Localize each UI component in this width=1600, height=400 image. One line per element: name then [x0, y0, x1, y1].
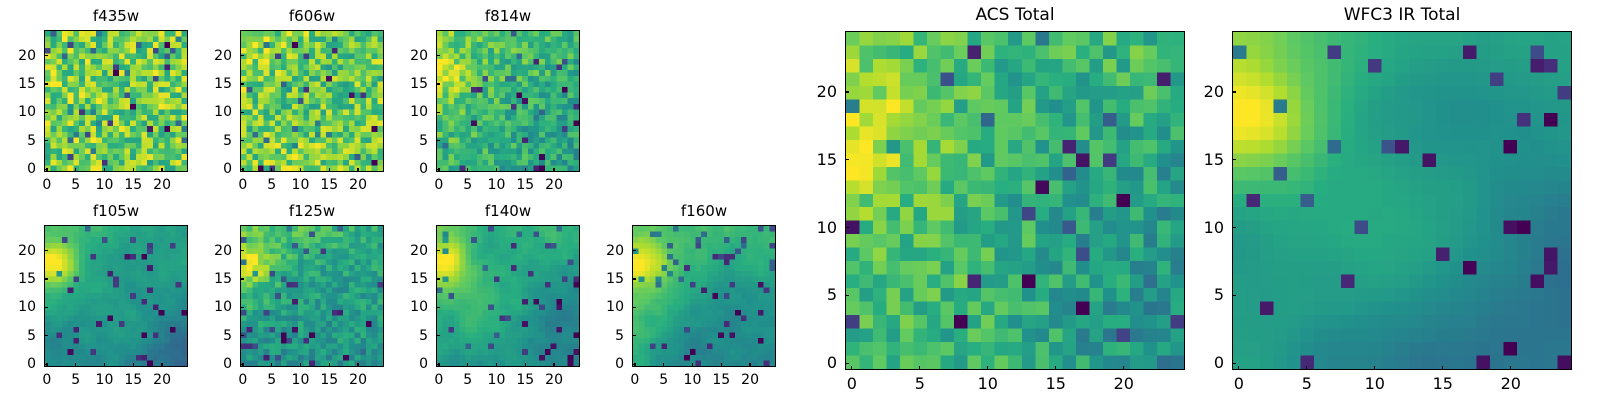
panel-title-f606w: f606w	[240, 6, 384, 26]
xtick-label-f125w-3: 15	[320, 371, 338, 389]
heatmap-image-f105w	[45, 226, 187, 366]
ytick-label-f105w-2: 10	[2, 298, 36, 316]
ytick-mark-acs-total-0	[845, 363, 849, 364]
ytick-mark-f435w-0	[44, 169, 48, 170]
ytick-mark-f105w-3	[44, 278, 48, 279]
ytick-mark-f606w-3	[240, 83, 244, 84]
ytick-mark-f125w-0	[240, 364, 244, 365]
ytick-mark-f140w-3	[436, 278, 440, 279]
xtick-mark-f435w-4	[161, 168, 162, 172]
ytick-label-f125w-4: 20	[198, 242, 232, 260]
ytick-label-wfc3-ir-total-0: 0	[1190, 353, 1224, 373]
ytick-mark-acs-total-1	[845, 295, 849, 296]
xtick-label-f125w-0: 0	[238, 371, 247, 389]
xtick-label-wfc3-ir-total-2: 10	[1365, 374, 1385, 394]
ytick-label-f140w-4: 20	[394, 242, 428, 260]
xtick-mark-wfc3-ir-total-3	[1442, 366, 1443, 370]
xtick-label-f814w-2: 10	[488, 176, 506, 194]
xtick-label-acs-total-4: 20	[1114, 374, 1134, 394]
xtick-label-f140w-3: 15	[516, 371, 534, 389]
ytick-label-acs-total-1: 5	[803, 285, 837, 305]
xtick-mark-wfc3-ir-total-0	[1238, 366, 1239, 370]
panel-f125w: f125w0510152005101520	[240, 201, 384, 393]
xtick-label-f435w-0: 0	[42, 176, 51, 194]
ytick-label-f435w-4: 20	[2, 47, 36, 65]
panel-title-f435w: f435w	[44, 6, 188, 26]
ytick-label-f435w-0: 0	[2, 160, 36, 178]
ytick-label-acs-total-3: 15	[803, 150, 837, 170]
xtick-mark-f814w-4	[553, 168, 554, 172]
ytick-label-f814w-4: 20	[394, 47, 428, 65]
ytick-label-wfc3-ir-total-2: 10	[1190, 218, 1224, 238]
ytick-mark-acs-total-3	[845, 159, 849, 160]
xtick-label-wfc3-ir-total-3: 15	[1433, 374, 1453, 394]
xtick-label-f140w-0: 0	[434, 371, 443, 389]
ytick-label-f105w-1: 5	[2, 327, 36, 345]
panel-title-f140w: f140w	[436, 201, 580, 221]
xtick-label-wfc3-ir-total-4: 20	[1501, 374, 1521, 394]
xtick-label-acs-total-3: 15	[1046, 374, 1066, 394]
ytick-mark-f814w-2	[436, 112, 440, 113]
xtick-label-f160w-4: 20	[741, 371, 759, 389]
panel-f606w: f606w0510152005101520	[240, 6, 384, 198]
ytick-mark-f105w-4	[44, 250, 48, 251]
xtick-mark-f105w-4	[161, 363, 162, 367]
xtick-mark-f435w-2	[104, 168, 105, 172]
xtick-mark-acs-total-0	[851, 366, 852, 370]
xtick-mark-f606w-1	[271, 168, 272, 172]
xtick-label-f105w-3: 15	[124, 371, 142, 389]
xtick-label-f606w-4: 20	[349, 176, 367, 194]
xtick-mark-f814w-1	[467, 168, 468, 172]
xtick-label-f160w-2: 10	[684, 371, 702, 389]
xtick-label-acs-total-0: 0	[847, 374, 857, 394]
xtick-label-f435w-1: 5	[71, 176, 80, 194]
panel-f140w: f140w0510152005101520	[436, 201, 580, 393]
heatmap-image-f125w	[241, 226, 383, 366]
ytick-label-f105w-4: 20	[2, 242, 36, 260]
ytick-label-f160w-3: 15	[590, 270, 624, 288]
ytick-mark-f814w-4	[436, 55, 440, 56]
ytick-mark-f105w-1	[44, 335, 48, 336]
xtick-label-f606w-1: 5	[267, 176, 276, 194]
heatmap-axes-f125w	[240, 225, 384, 367]
xtick-mark-f435w-3	[133, 168, 134, 172]
ytick-mark-wfc3-ir-total-4	[1232, 91, 1236, 92]
ytick-label-f140w-0: 0	[394, 355, 428, 373]
ytick-label-f125w-3: 15	[198, 270, 232, 288]
xtick-label-f606w-0: 0	[238, 176, 247, 194]
xtick-label-f105w-4: 20	[153, 371, 171, 389]
xtick-mark-f435w-1	[75, 168, 76, 172]
ytick-mark-acs-total-2	[845, 227, 849, 228]
ytick-label-f160w-0: 0	[590, 355, 624, 373]
xtick-label-f160w-1: 5	[659, 371, 668, 389]
ytick-label-f160w-2: 10	[590, 298, 624, 316]
ytick-label-f606w-4: 20	[198, 47, 232, 65]
ytick-label-f105w-0: 0	[2, 355, 36, 373]
xtick-label-f814w-0: 0	[434, 176, 443, 194]
ytick-mark-f140w-2	[436, 307, 440, 308]
xtick-mark-f125w-2	[300, 363, 301, 367]
heatmap-image-acs-total	[846, 32, 1184, 369]
ytick-label-f435w-2: 10	[2, 103, 36, 121]
ytick-mark-f105w-2	[44, 307, 48, 308]
xtick-label-wfc3-ir-total-0: 0	[1234, 374, 1244, 394]
xtick-mark-f606w-2	[300, 168, 301, 172]
xtick-mark-wfc3-ir-total-4	[1510, 366, 1511, 370]
xtick-mark-acs-total-4	[1123, 366, 1124, 370]
xtick-label-f160w-0: 0	[630, 371, 639, 389]
heatmap-axes-wfc3-ir-total	[1232, 31, 1572, 370]
xtick-label-f435w-2: 10	[96, 176, 114, 194]
ytick-mark-wfc3-ir-total-1	[1232, 295, 1236, 296]
xtick-label-f435w-4: 20	[153, 176, 171, 194]
ytick-label-f160w-4: 20	[590, 242, 624, 260]
xtick-mark-f125w-3	[329, 363, 330, 367]
ytick-mark-f814w-1	[436, 140, 440, 141]
ytick-mark-f160w-2	[632, 307, 636, 308]
panel-title-f814w: f814w	[436, 6, 580, 26]
xtick-mark-acs-total-3	[1055, 366, 1056, 370]
ytick-label-f105w-3: 15	[2, 270, 36, 288]
panel-title-wfc3-ir-total: WFC3 IR Total	[1232, 4, 1572, 27]
ytick-label-f125w-2: 10	[198, 298, 232, 316]
ytick-mark-acs-total-4	[845, 91, 849, 92]
ytick-label-f125w-1: 5	[198, 327, 232, 345]
panel-f814w: f814w0510152005101520	[436, 6, 580, 198]
ytick-mark-f435w-2	[44, 112, 48, 113]
ytick-label-f435w-3: 15	[2, 75, 36, 93]
ytick-mark-wfc3-ir-total-2	[1232, 227, 1236, 228]
ytick-label-wfc3-ir-total-1: 5	[1190, 285, 1224, 305]
heatmap-axes-f140w	[436, 225, 580, 367]
panel-f105w: f105w0510152005101520	[44, 201, 188, 393]
heatmap-image-f814w	[437, 31, 579, 171]
xtick-label-f606w-3: 15	[320, 176, 338, 194]
ytick-label-f140w-3: 15	[394, 270, 428, 288]
ytick-label-f435w-1: 5	[2, 132, 36, 150]
ytick-mark-f125w-2	[240, 307, 244, 308]
heatmap-axes-f105w	[44, 225, 188, 367]
xtick-mark-f814w-3	[525, 168, 526, 172]
xtick-mark-f814w-2	[496, 168, 497, 172]
ytick-mark-f160w-3	[632, 278, 636, 279]
xtick-label-wfc3-ir-total-1: 5	[1302, 374, 1312, 394]
xtick-mark-f160w-2	[692, 363, 693, 367]
ytick-label-f606w-0: 0	[198, 160, 232, 178]
xtick-mark-f125w-1	[271, 363, 272, 367]
ytick-mark-f160w-1	[632, 335, 636, 336]
panel-f435w: f435w0510152005101520	[44, 6, 188, 198]
ytick-label-f814w-0: 0	[394, 160, 428, 178]
xtick-label-f606w-2: 10	[292, 176, 310, 194]
xtick-label-f140w-1: 5	[463, 371, 472, 389]
xtick-mark-f140w-3	[525, 363, 526, 367]
xtick-label-f105w-1: 5	[71, 371, 80, 389]
heatmap-image-f606w	[241, 31, 383, 171]
xtick-mark-f105w-2	[104, 363, 105, 367]
ytick-mark-wfc3-ir-total-0	[1232, 363, 1236, 364]
panel-title-f125w: f125w	[240, 201, 384, 221]
xtick-label-f814w-1: 5	[463, 176, 472, 194]
ytick-label-f606w-1: 5	[198, 132, 232, 150]
xtick-mark-acs-total-2	[987, 366, 988, 370]
ytick-mark-f435w-4	[44, 55, 48, 56]
ytick-mark-f606w-2	[240, 112, 244, 113]
ytick-mark-wfc3-ir-total-3	[1232, 159, 1236, 160]
xtick-label-f140w-4: 20	[545, 371, 563, 389]
xtick-mark-f140w-2	[496, 363, 497, 367]
ytick-label-f160w-1: 5	[590, 327, 624, 345]
xtick-label-f140w-2: 10	[488, 371, 506, 389]
xtick-label-f105w-2: 10	[96, 371, 114, 389]
ytick-label-acs-total-2: 10	[803, 218, 837, 238]
ytick-label-f606w-2: 10	[198, 103, 232, 121]
xtick-label-f160w-3: 15	[712, 371, 730, 389]
xtick-mark-f140w-4	[553, 363, 554, 367]
heatmap-axes-f606w	[240, 30, 384, 172]
ytick-mark-f160w-0	[632, 364, 636, 365]
ytick-label-f140w-1: 5	[394, 327, 428, 345]
ytick-mark-f140w-0	[436, 364, 440, 365]
xtick-label-f814w-4: 20	[545, 176, 563, 194]
heatmap-axes-acs-total	[845, 31, 1185, 370]
heatmap-axes-f814w	[436, 30, 580, 172]
heatmap-image-f160w	[633, 226, 775, 366]
xtick-mark-f105w-3	[133, 363, 134, 367]
xtick-mark-f125w-4	[357, 363, 358, 367]
xtick-label-f435w-3: 15	[124, 176, 142, 194]
ytick-label-f125w-0: 0	[198, 355, 232, 373]
ytick-mark-f435w-1	[44, 140, 48, 141]
xtick-mark-f160w-4	[749, 363, 750, 367]
ytick-mark-f814w-0	[436, 169, 440, 170]
ytick-mark-f606w-0	[240, 169, 244, 170]
panel-acs-total: ACS Total0510152005101520	[845, 4, 1185, 396]
ytick-mark-f606w-4	[240, 55, 244, 56]
ytick-mark-f160w-4	[632, 250, 636, 251]
xtick-label-f105w-0: 0	[42, 371, 51, 389]
xtick-mark-f160w-1	[663, 363, 664, 367]
xtick-label-f125w-2: 10	[292, 371, 310, 389]
heatmap-axes-f435w	[44, 30, 188, 172]
xtick-mark-f140w-1	[467, 363, 468, 367]
xtick-label-f125w-1: 5	[267, 371, 276, 389]
ytick-label-acs-total-0: 0	[803, 353, 837, 373]
ytick-label-f140w-2: 10	[394, 298, 428, 316]
ytick-mark-f105w-0	[44, 364, 48, 365]
panel-title-acs-total: ACS Total	[845, 4, 1185, 27]
ytick-mark-f814w-3	[436, 83, 440, 84]
heatmap-image-f435w	[45, 31, 187, 171]
panel-title-f160w: f160w	[632, 201, 776, 221]
heatmap-image-wfc3-ir-total	[1233, 32, 1571, 369]
xtick-mark-f606w-3	[329, 168, 330, 172]
ytick-mark-f125w-4	[240, 250, 244, 251]
ytick-label-f814w-1: 5	[394, 132, 428, 150]
ytick-mark-f435w-3	[44, 83, 48, 84]
xtick-label-acs-total-2: 10	[978, 374, 998, 394]
panel-title-f105w: f105w	[44, 201, 188, 221]
heatmap-image-f140w	[437, 226, 579, 366]
xtick-mark-acs-total-1	[919, 366, 920, 370]
xtick-label-acs-total-1: 5	[915, 374, 925, 394]
xtick-label-f125w-4: 20	[349, 371, 367, 389]
ytick-label-wfc3-ir-total-4: 20	[1190, 82, 1224, 102]
ytick-label-acs-total-4: 20	[803, 82, 837, 102]
figure-canvas: f435w0510152005101520f606w05101520051015…	[0, 0, 1600, 400]
ytick-mark-f140w-4	[436, 250, 440, 251]
panel-f160w: f160w0510152005101520	[632, 201, 776, 393]
xtick-mark-f105w-1	[75, 363, 76, 367]
ytick-label-f814w-2: 10	[394, 103, 428, 121]
ytick-label-f606w-3: 15	[198, 75, 232, 93]
xtick-mark-wfc3-ir-total-1	[1306, 366, 1307, 370]
xtick-label-f814w-3: 15	[516, 176, 534, 194]
panel-wfc3-ir-total: WFC3 IR Total0510152005101520	[1232, 4, 1572, 396]
ytick-label-wfc3-ir-total-3: 15	[1190, 150, 1224, 170]
xtick-mark-f160w-3	[721, 363, 722, 367]
xtick-mark-f606w-4	[357, 168, 358, 172]
ytick-label-f814w-3: 15	[394, 75, 428, 93]
ytick-mark-f125w-3	[240, 278, 244, 279]
ytick-mark-f606w-1	[240, 140, 244, 141]
ytick-mark-f125w-1	[240, 335, 244, 336]
xtick-mark-wfc3-ir-total-2	[1374, 366, 1375, 370]
heatmap-axes-f160w	[632, 225, 776, 367]
ytick-mark-f140w-1	[436, 335, 440, 336]
